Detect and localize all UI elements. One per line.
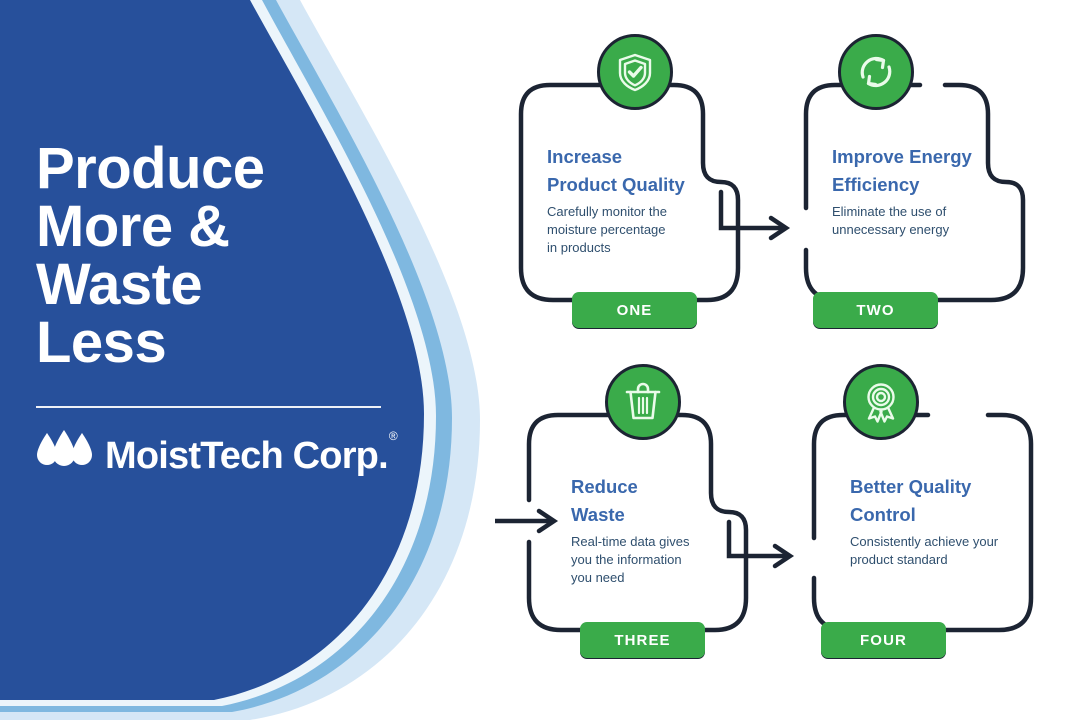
flow-card-three[interactable]: Reduce Waste Real-time data gives you th…	[529, 415, 746, 630]
brand-name: MoistTech Corp.®	[105, 437, 396, 475]
page-title: Produce More & Waste Less	[36, 140, 426, 372]
shield-check-icon	[597, 34, 673, 110]
card-three-badge-label: THREE	[614, 632, 670, 649]
flow-card-two[interactable]: Improve Energy Efficiency Eliminate the …	[806, 85, 1023, 300]
trash-can-icon	[605, 364, 681, 440]
refresh-cycle-icon	[838, 34, 914, 110]
card-four-badge-label: FOUR	[860, 632, 907, 649]
card-two-badge-label: TWO	[856, 302, 894, 319]
infographic-canvas: Produce More & Waste Less MoistTech Corp…	[0, 0, 1080, 720]
card-one-badge: ONE	[572, 292, 697, 328]
card-one-body: Carefully monitor the moisture percentag…	[547, 203, 722, 258]
card-three-body: Real-time data gives you the information…	[571, 533, 751, 588]
award-ribbon-icon	[843, 364, 919, 440]
flow-card-four[interactable]: Better Quality Control Consistently achi…	[814, 415, 1031, 630]
card-two-title: Improve Energy Efficiency	[832, 143, 1012, 199]
card-one-badge-label: ONE	[617, 302, 653, 319]
flow-cards: Increase Product Quality Carefully monit…	[495, 0, 1080, 720]
card-two-body: Eliminate the use of unnecessary energy	[832, 203, 1012, 240]
card-four-badge: FOUR	[821, 622, 946, 658]
divider-rule	[36, 406, 381, 408]
registered-trademark-icon: ®	[389, 429, 397, 443]
card-four-title: Better Quality Control	[850, 473, 1045, 529]
card-four-body: Consistently achieve your product standa…	[850, 533, 1045, 570]
flow-card-one[interactable]: Increase Product Quality Carefully monit…	[521, 85, 738, 300]
card-three-badge: THREE	[580, 622, 705, 658]
card-three-title: Reduce Waste	[571, 473, 751, 529]
water-droplets-icon	[36, 430, 94, 475]
brand-name-text: MoistTech Corp.	[105, 435, 388, 477]
card-one-title: Increase Product Quality	[547, 143, 722, 199]
brand-logo: MoistTech Corp.®	[36, 430, 426, 475]
hero-text-block: Produce More & Waste Less MoistTech Corp…	[36, 140, 426, 475]
card-two-badge: TWO	[813, 292, 938, 328]
